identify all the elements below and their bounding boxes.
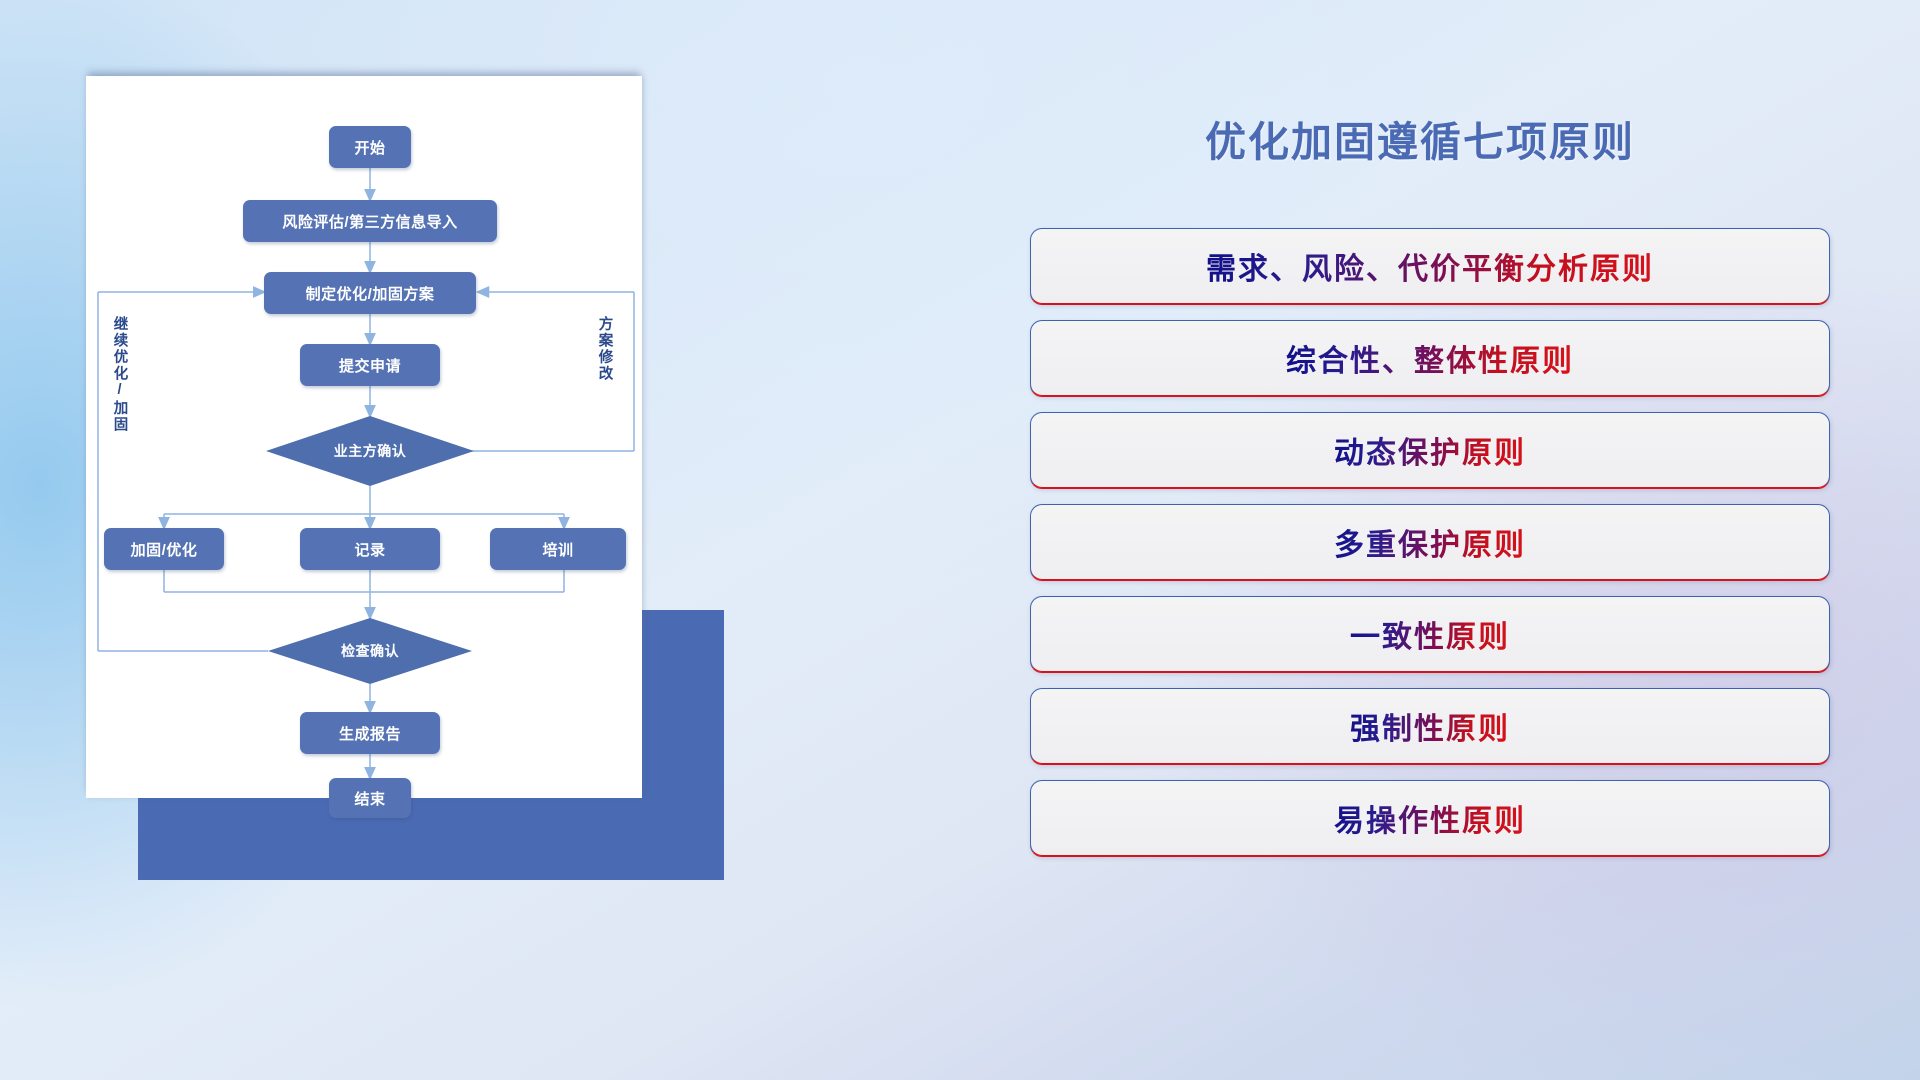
flow-edge-label-plan-revision: 方案修改 <box>597 316 612 382</box>
principle-card[interactable]: 动态保护原则 <box>1030 412 1830 488</box>
flow-node-label: 培训 <box>542 539 573 560</box>
principle-label: 强制性原则 <box>1350 704 1510 748</box>
flow-node-record[interactable]: 记录 <box>300 528 440 570</box>
flow-node-risk-assessment[interactable]: 风险评估/第三方信息导入 <box>243 200 497 242</box>
principle-card[interactable]: 易操作性原则 <box>1030 780 1830 856</box>
principle-label: 动态保护原则 <box>1334 428 1526 472</box>
flow-node-label: 提交申请 <box>339 355 401 376</box>
principle-label: 多重保护原则 <box>1334 520 1526 564</box>
flow-node-plan[interactable]: 制定优化/加固方案 <box>264 272 476 314</box>
flow-node-label: 加固/优化 <box>131 539 198 560</box>
principle-card[interactable]: 综合性、整体性原则 <box>1030 320 1830 396</box>
flow-node-label: 记录 <box>354 539 385 560</box>
flow-node-label: 制定优化/加固方案 <box>306 283 435 304</box>
flow-edge-label-continue-optimize: 继续优化/加固 <box>112 316 127 433</box>
flow-node-submit-application[interactable]: 提交申请 <box>300 344 440 386</box>
principle-card[interactable]: 需求、风险、代价平衡分析原则 <box>1030 228 1830 304</box>
flow-node-end[interactable]: 结束 <box>329 778 411 818</box>
page-title: 优化加固遵循七项原则 <box>1020 108 1820 168</box>
principles-panel: 优化加固遵循七项原则 需求、风险、代价平衡分析原则 综合性、整体性原则 动态保护… <box>1020 70 1840 1030</box>
flow-node-label: 开始 <box>354 137 385 158</box>
flow-node-label: 生成报告 <box>339 723 401 744</box>
flow-node-label: 检查确认 <box>341 641 399 661</box>
flow-node-label: 风险评估/第三方信息导入 <box>282 211 457 232</box>
principle-card[interactable]: 强制性原则 <box>1030 688 1830 764</box>
flow-node-owner-confirm[interactable]: 业主方确认 <box>266 416 474 486</box>
principle-label: 综合性、整体性原则 <box>1286 336 1574 380</box>
principles-list: 需求、风险、代价平衡分析原则 综合性、整体性原则 动态保护原则 多重保护原则 一… <box>1030 228 1830 872</box>
flow-node-label: 结束 <box>354 788 385 809</box>
flowchart-card: 开始 风险评估/第三方信息导入 制定优化/加固方案 提交申请 业主方确认 加固/… <box>86 76 642 798</box>
principle-label: 需求、风险、代价平衡分析原则 <box>1206 244 1654 288</box>
flow-node-start[interactable]: 开始 <box>329 126 411 168</box>
principle-label: 一致性原则 <box>1350 612 1510 656</box>
flow-node-label: 业主方确认 <box>334 441 407 461</box>
flow-node-generate-report[interactable]: 生成报告 <box>300 712 440 754</box>
principle-card[interactable]: 一致性原则 <box>1030 596 1830 672</box>
principle-label: 易操作性原则 <box>1334 796 1526 840</box>
flow-node-check-confirm[interactable]: 检查确认 <box>268 618 472 684</box>
flowchart-panel: 开始 风险评估/第三方信息导入 制定优化/加固方案 提交申请 业主方确认 加固/… <box>86 76 666 804</box>
flow-node-reinforce-optimize[interactable]: 加固/优化 <box>104 528 224 570</box>
flow-node-training[interactable]: 培训 <box>490 528 626 570</box>
principle-card[interactable]: 多重保护原则 <box>1030 504 1830 580</box>
